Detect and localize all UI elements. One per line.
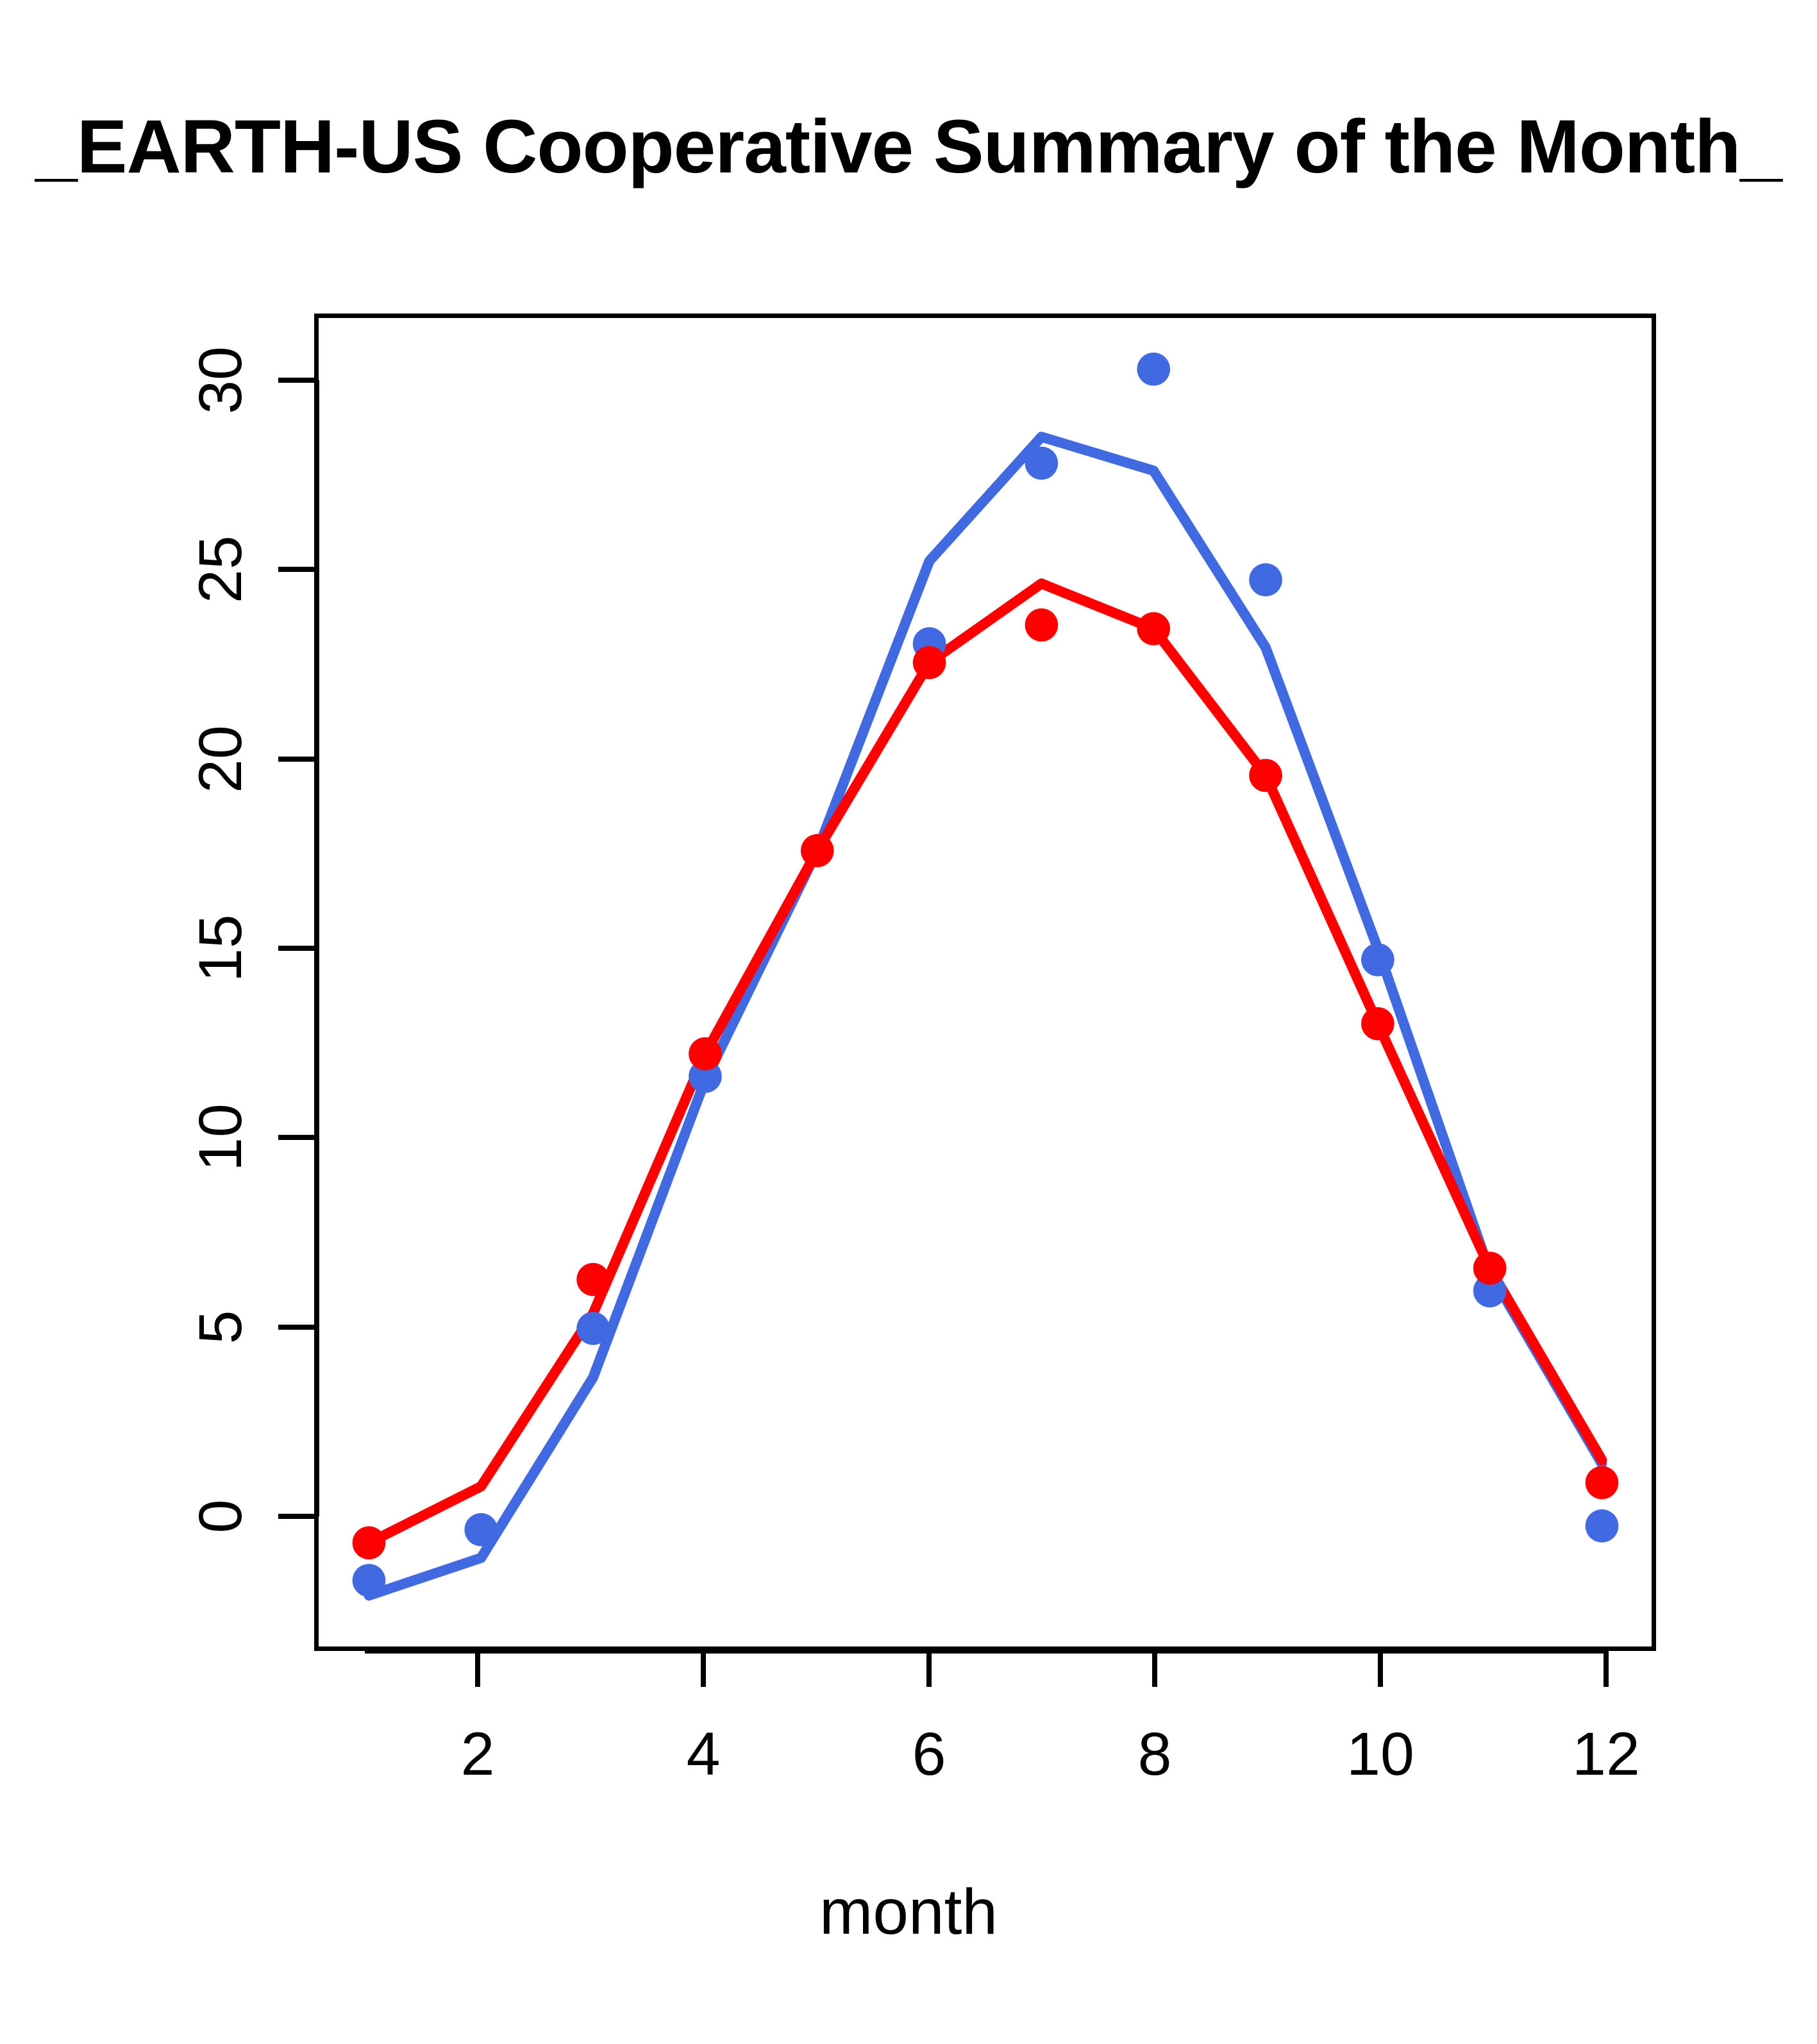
x-tick-label-10: 10 — [1297, 1720, 1464, 1789]
data-point — [801, 834, 834, 867]
y-tick-15 — [278, 946, 314, 951]
y-tick-label-25: 25 — [185, 505, 256, 633]
x-tick-label-6: 6 — [846, 1720, 1012, 1789]
x-tick-2 — [475, 1651, 480, 1687]
y-tick-label-30: 30 — [185, 316, 256, 444]
data-point — [464, 1513, 498, 1546]
data-point — [1473, 1252, 1507, 1285]
y-tick-label-15: 15 — [185, 884, 256, 1012]
plot-svg — [319, 318, 1652, 1646]
y-tick-25 — [278, 567, 314, 572]
y-tick-label-10: 10 — [185, 1073, 256, 1202]
data-point — [689, 1037, 722, 1071]
y-tick-label-20: 20 — [185, 695, 256, 823]
y-tick-0 — [278, 1514, 314, 1519]
x-tick-8 — [1152, 1651, 1157, 1687]
data-point — [1586, 1466, 1619, 1500]
x-tick-10 — [1378, 1651, 1383, 1687]
x-tick-label-4: 4 — [620, 1720, 787, 1789]
x-tick-12 — [1603, 1651, 1609, 1687]
x-tick-6 — [926, 1651, 932, 1687]
x-tick-label-8: 8 — [1071, 1720, 1238, 1789]
x-tick-label-2: 2 — [394, 1720, 561, 1789]
data-point — [353, 1564, 386, 1597]
data-point — [1137, 612, 1170, 646]
x-axis-line — [365, 1648, 1606, 1654]
x-tick-label-12: 12 — [1523, 1720, 1689, 1789]
data-point — [1249, 759, 1282, 792]
data-point — [1586, 1509, 1619, 1543]
data-point — [576, 1312, 610, 1345]
chart-page: _EARTH-US Cooperative Summary of the Mon… — [0, 0, 1817, 2044]
page-title: _EARTH-US Cooperative Summary of the Mon… — [35, 109, 1782, 185]
y-tick-10 — [278, 1135, 314, 1140]
y-tick-label-0: 0 — [185, 1452, 256, 1580]
x-axis-title: month — [0, 1875, 1817, 1949]
plot-area — [314, 314, 1656, 1651]
blue-line — [369, 437, 1602, 1595]
data-point — [1137, 353, 1170, 386]
blue-points — [353, 353, 1619, 1597]
data-point — [913, 646, 946, 680]
data-point — [576, 1263, 610, 1296]
data-point — [353, 1527, 386, 1560]
y-tick-5 — [278, 1325, 314, 1330]
data-point — [1249, 563, 1282, 596]
data-point — [1025, 608, 1059, 642]
y-tick-30 — [278, 378, 314, 383]
y-tick-label-5: 5 — [185, 1263, 256, 1391]
data-point — [1025, 447, 1059, 480]
y-axis-line — [314, 380, 319, 1516]
y-tick-20 — [278, 757, 314, 762]
x-tick-4 — [701, 1651, 706, 1687]
data-point — [1361, 943, 1394, 976]
data-point — [1361, 1007, 1394, 1041]
